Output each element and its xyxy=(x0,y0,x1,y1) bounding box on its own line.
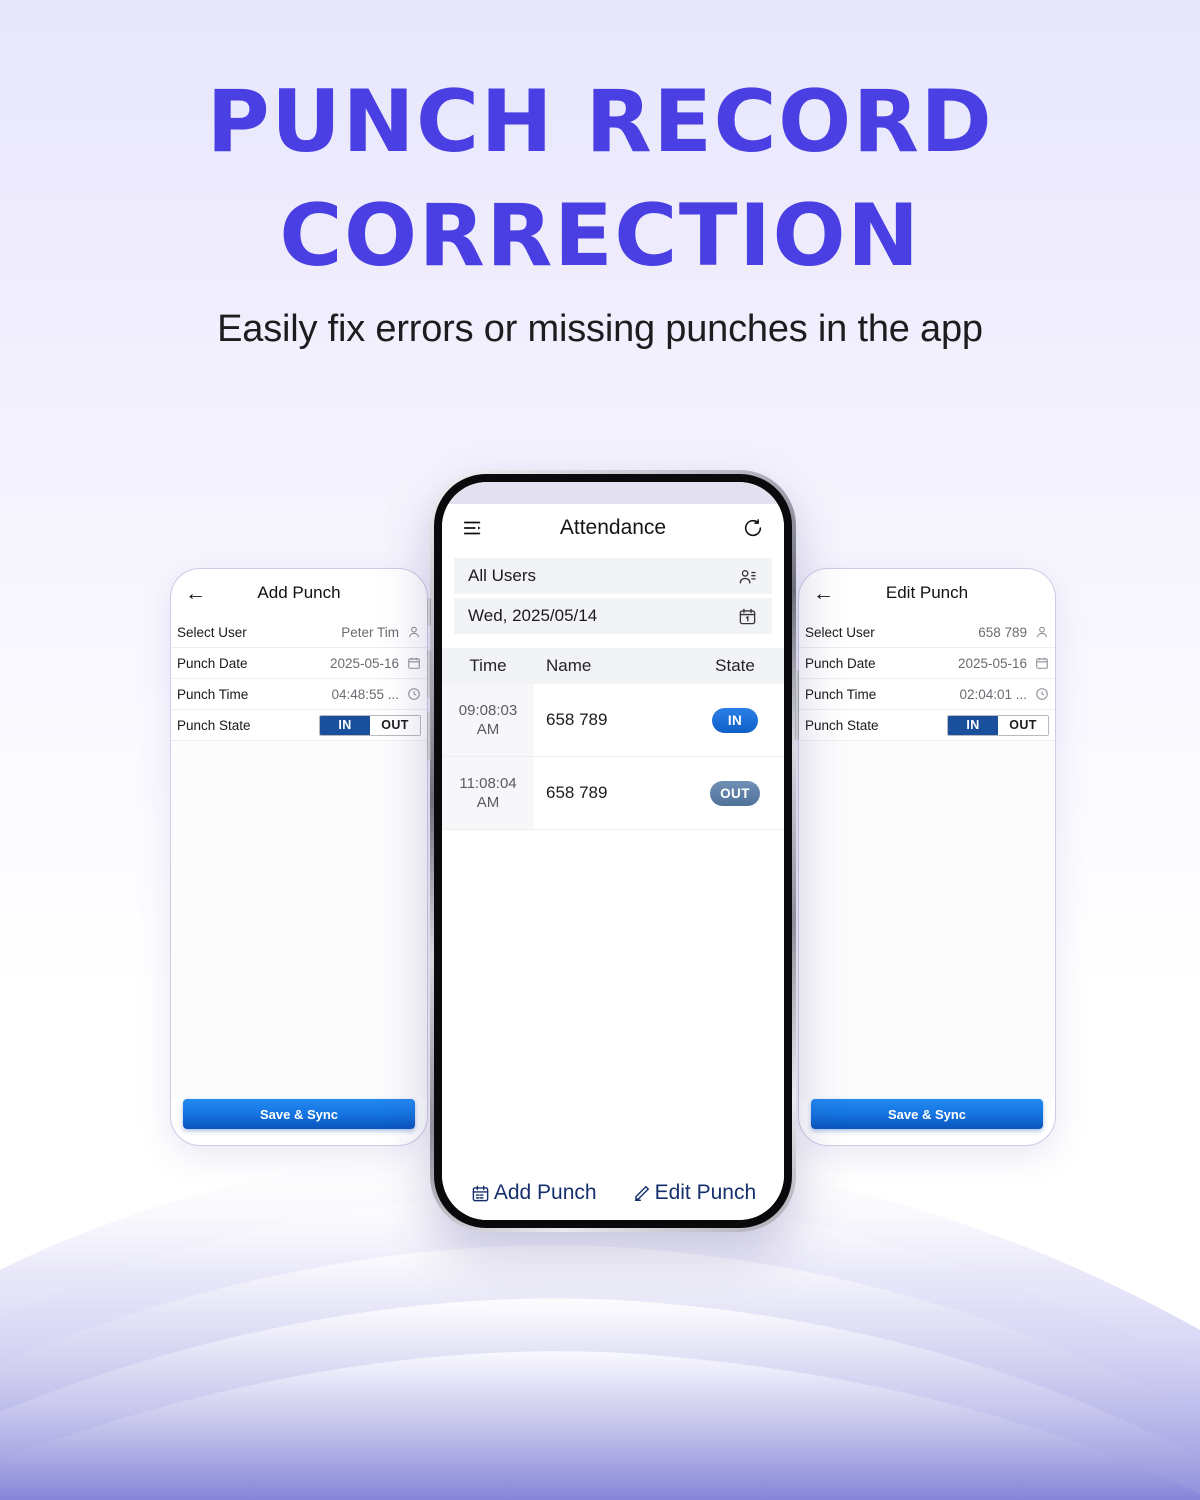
table-row[interactable]: 09:08:03 AM 658 789 IN xyxy=(442,684,784,757)
edit-punch-time-value: 02:04:01 ... xyxy=(959,687,1027,702)
edit-state-out-option[interactable]: OUT xyxy=(998,716,1048,735)
add-punch-state-row[interactable]: Punch State IN OUT xyxy=(171,710,427,741)
calendar-icon xyxy=(406,656,421,671)
edit-punch-state-toggle[interactable]: IN OUT xyxy=(947,715,1049,736)
phone-bezel: Attendance All Users Wed, 2025/05/14 xyxy=(434,474,792,1228)
edit-punch-date-label: Punch Date xyxy=(805,656,876,671)
date-filter-select[interactable]: Wed, 2025/05/14 xyxy=(454,598,772,634)
edit-select-user-label: Select User xyxy=(805,625,875,640)
calendar-icon xyxy=(1034,656,1049,671)
user-icon xyxy=(406,625,421,640)
phone-screen: Attendance All Users Wed, 2025/05/14 xyxy=(442,482,784,1220)
add-punch-date-label: Punch Date xyxy=(177,656,248,671)
add-punch-title: Add Punch xyxy=(171,583,427,603)
edit-punch-title: Edit Punch xyxy=(799,583,1055,603)
add-select-user-value: Peter Tim xyxy=(341,625,399,640)
row-time-cell: 09:08:03 AM xyxy=(442,684,534,756)
app-bar-title: Attendance xyxy=(442,516,784,540)
filter-bar: All Users Wed, 2025/05/14 xyxy=(442,552,784,638)
add-state-in-option[interactable]: IN xyxy=(320,716,370,735)
add-select-user-row[interactable]: Select User Peter Tim xyxy=(171,617,427,648)
row-time-value: 09:08:03 xyxy=(459,701,517,721)
nav-edit-punch[interactable]: Edit Punch xyxy=(631,1181,757,1205)
user-filter-select[interactable]: All Users xyxy=(454,558,772,594)
user-list-icon xyxy=(737,566,758,587)
edit-punch-date-row[interactable]: Punch Date 2025-05-16 xyxy=(799,648,1055,679)
nav-edit-punch-label: Edit Punch xyxy=(655,1181,757,1205)
column-header-state: State xyxy=(694,656,784,676)
phone-power-button xyxy=(795,670,799,740)
hero-heading: PUNCH RECORD CORRECTION xyxy=(0,66,1200,293)
add-save-sync-button[interactable]: Save & Sync xyxy=(183,1099,415,1129)
add-punch-date-row[interactable]: Punch Date 2025-05-16 xyxy=(171,648,427,679)
phone-mockup: Attendance All Users Wed, 2025/05/14 xyxy=(430,470,796,1232)
edit-punch-header: ← Edit Punch xyxy=(799,569,1055,617)
back-arrow-icon[interactable]: ← xyxy=(185,583,207,604)
date-filter-value: Wed, 2025/05/14 xyxy=(468,606,597,626)
status-bar-area xyxy=(442,482,784,504)
add-punch-state-toggle[interactable]: IN OUT xyxy=(319,715,421,736)
column-header-name: Name xyxy=(534,656,694,676)
row-state-cell: IN xyxy=(694,684,784,756)
clock-icon xyxy=(1034,687,1049,702)
add-select-user-label: Select User xyxy=(177,625,247,640)
nav-add-punch-label: Add Punch xyxy=(494,1181,597,1205)
add-state-out-option[interactable]: OUT xyxy=(370,716,420,735)
edit-punch-body xyxy=(799,741,1055,1099)
phone-volume-up-button xyxy=(427,650,431,698)
pencil-icon xyxy=(631,1183,652,1204)
phone-mute-switch xyxy=(427,598,431,626)
edit-punch-state-label: Punch State xyxy=(805,718,879,733)
page-title: PUNCH RECORD CORRECTION xyxy=(0,66,1200,293)
add-punch-date-value: 2025-05-16 xyxy=(330,656,399,671)
edit-select-user-row[interactable]: Select User 658 789 xyxy=(799,617,1055,648)
edit-punch-time-row[interactable]: Punch Time 02:04:01 ... xyxy=(799,679,1055,710)
nav-add-punch[interactable]: Add Punch xyxy=(470,1181,597,1205)
title-line-2: CORRECTION xyxy=(0,180,1200,294)
attendance-list-empty-area xyxy=(442,830,784,1166)
edit-punch-date-value: 2025-05-16 xyxy=(958,656,1027,671)
menu-unfold-icon[interactable] xyxy=(460,515,486,541)
refresh-icon[interactable] xyxy=(740,515,766,541)
calendar-add-icon xyxy=(470,1183,491,1204)
row-time-meridiem: AM xyxy=(477,793,500,813)
add-punch-body xyxy=(171,741,427,1099)
attendance-table-header: Time Name State xyxy=(442,648,784,684)
edit-state-in-option[interactable]: IN xyxy=(948,716,998,735)
row-name-cell: 658 789 xyxy=(534,684,694,756)
app-bar: Attendance xyxy=(442,504,784,552)
table-row[interactable]: 11:08:04 AM 658 789 OUT xyxy=(442,757,784,830)
title-line-1: PUNCH RECORD xyxy=(207,72,994,172)
status-badge: IN xyxy=(712,708,758,733)
row-time-value: 11:08:04 xyxy=(459,774,516,794)
add-punch-time-value: 04:48:55 ... xyxy=(331,687,399,702)
add-punch-time-row[interactable]: Punch Time 04:48:55 ... xyxy=(171,679,427,710)
phone-volume-down-button xyxy=(427,712,431,760)
edit-select-user-value: 658 789 xyxy=(978,625,1027,640)
hero-subtitle: Easily fix errors or missing punches in … xyxy=(0,308,1200,351)
add-punch-state-label: Punch State xyxy=(177,718,251,733)
bottom-navigation: Add Punch Edit Punch xyxy=(442,1166,784,1220)
row-state-cell: OUT xyxy=(694,757,784,829)
calendar-icon xyxy=(737,606,758,627)
edit-punch-card[interactable]: ← Edit Punch Select User 658 789 Punch D… xyxy=(798,568,1056,1146)
row-name-cell: 658 789 xyxy=(534,757,694,829)
edit-punch-state-row[interactable]: Punch State IN OUT xyxy=(799,710,1055,741)
user-icon xyxy=(1034,625,1049,640)
edit-save-sync-button[interactable]: Save & Sync xyxy=(811,1099,1043,1129)
status-badge: OUT xyxy=(710,781,760,806)
row-time-cell: 11:08:04 AM xyxy=(442,757,534,829)
back-arrow-icon[interactable]: ← xyxy=(813,583,835,604)
add-punch-time-label: Punch Time xyxy=(177,687,248,702)
edit-punch-time-label: Punch Time xyxy=(805,687,876,702)
column-header-time: Time xyxy=(442,656,534,676)
clock-icon xyxy=(406,687,421,702)
add-punch-header: ← Add Punch xyxy=(171,569,427,617)
user-filter-value: All Users xyxy=(468,566,536,586)
add-punch-card[interactable]: ← Add Punch Select User Peter Tim Punch … xyxy=(170,568,428,1146)
row-time-meridiem: AM xyxy=(477,720,500,740)
